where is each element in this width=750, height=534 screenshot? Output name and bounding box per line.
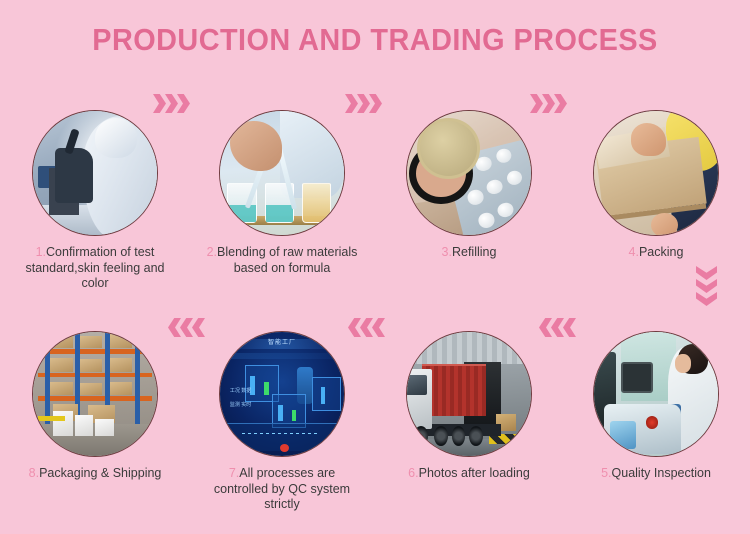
flow-arrow-4-to-5	[696, 266, 717, 305]
step-3-label: Refilling	[452, 245, 496, 259]
chevron-right-icon	[554, 94, 567, 113]
step-7-number: 7.	[229, 466, 239, 480]
chevron-down-icon	[696, 266, 717, 280]
pipette-beakers-blending-photo	[220, 111, 344, 235]
step-8-image	[32, 331, 158, 457]
step-8-label: Packaging & Shipping	[39, 466, 161, 480]
step-5-label: Quality Inspection	[612, 466, 711, 480]
step-6-label: Photos after loading	[419, 466, 530, 480]
process-step-8[interactable]: 8.Packaging & Shipping	[15, 331, 175, 482]
step-8-caption: 8.Packaging & Shipping	[15, 466, 175, 482]
step-1-label: Confirmation of test standard,skin feeli…	[26, 245, 165, 290]
container-truck-loading-photo	[407, 332, 531, 456]
step-2-number: 2.	[207, 245, 217, 259]
step-3-image	[406, 110, 532, 236]
step-2-caption: 2.Blending of raw materials based on for…	[202, 245, 362, 276]
step-2-image	[219, 110, 345, 236]
step-4-number: 4.	[629, 245, 639, 259]
step-7-caption: 7.All processes are controlled by QC sys…	[202, 466, 362, 513]
step-1-number: 1.	[36, 245, 46, 259]
step-5-image	[593, 331, 719, 457]
process-step-7[interactable]: 智能工厂 工况 数据 监测 实时 7.All processes are con…	[202, 331, 362, 513]
process-step-1[interactable]: 1.Confirmation of test standard,skin fee…	[15, 110, 175, 292]
page-title: PRODUCTION AND TRADING PROCESS	[26, 22, 724, 58]
step-6-image	[406, 331, 532, 457]
chevron-right-icon	[369, 94, 382, 113]
step-8-number: 8.	[29, 466, 39, 480]
step-3-caption: 3.Refilling	[389, 245, 549, 261]
chevron-down-icon	[696, 279, 717, 293]
process-step-6[interactable]: 6.Photos after loading	[389, 331, 549, 482]
step-4-image	[593, 110, 719, 236]
infographic-page: PRODUCTION AND TRADING PROCESS	[0, 0, 750, 534]
step-3-number: 3.	[442, 245, 452, 259]
step-5-number: 5.	[601, 466, 611, 480]
chevron-left-icon	[563, 318, 576, 337]
quality-inspection-operator-photo	[594, 332, 718, 456]
chevron-right-icon	[177, 94, 190, 113]
step-4-label: Packing	[639, 245, 683, 259]
step-4-caption: 4.Packing	[576, 245, 736, 261]
warehouse-racks-shipping-photo	[33, 332, 157, 456]
step-1-caption: 1.Confirmation of test standard,skin fee…	[15, 245, 175, 292]
step-6-number: 6.	[408, 466, 418, 480]
step-1-image	[32, 110, 158, 236]
chevron-left-icon	[372, 318, 385, 337]
cosmetic-compact-refill-photo	[407, 111, 531, 235]
step-5-caption: 5.Quality Inspection	[576, 466, 736, 482]
step-6-caption: 6.Photos after loading	[389, 466, 549, 482]
chevron-down-icon	[696, 292, 717, 306]
lab-technician-microscope-photo	[33, 111, 157, 235]
process-step-5[interactable]: 5.Quality Inspection	[576, 331, 736, 482]
process-step-4[interactable]: 4.Packing	[576, 110, 736, 261]
cardboard-box-packing-photo	[594, 111, 718, 235]
step-2-label: Blending of raw materials based on formu…	[217, 245, 357, 275]
step-7-image: 智能工厂 工况 数据 监测 实时	[219, 331, 345, 457]
process-step-2[interactable]: 2.Blending of raw materials based on for…	[202, 110, 362, 276]
process-step-3[interactable]: 3.Refilling	[389, 110, 549, 261]
qc-scada-control-screen-photo: 智能工厂 工况 数据 监测 实时	[220, 332, 344, 456]
